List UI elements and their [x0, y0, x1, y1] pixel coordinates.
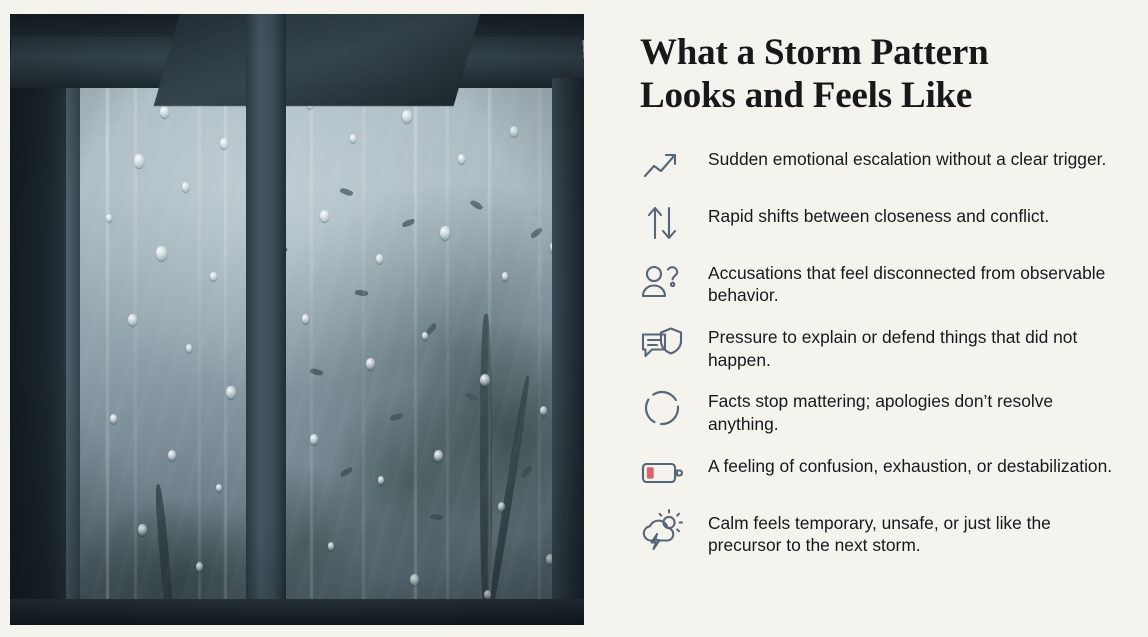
storm-window-illustration: [10, 14, 584, 625]
cloud-sun-lightning-icon: [640, 510, 684, 550]
speech-bubble-shield-icon: [640, 324, 684, 364]
illustration-vignette: [10, 14, 584, 625]
list-item-label: A feeling of confusion, exhaustion, or d…: [708, 453, 1112, 478]
list-item: Calm feels temporary, unsafe, or just li…: [640, 510, 1130, 557]
list-item: Sudden emotional escalation without a cl…: [640, 146, 1130, 186]
storm-pattern-list: Sudden emotional escalation without a cl…: [640, 146, 1130, 557]
slide-root: What a Storm Pattern Looks and Feels Lik…: [0, 0, 1148, 637]
page-title-line-2: Looks and Feels Like: [640, 75, 972, 116]
list-item-label: Pressure to explain or defend things tha…: [708, 324, 1128, 371]
list-item-label: Facts stop mattering; apologies don’t re…: [708, 388, 1128, 435]
list-item-label: Sudden emotional escalation without a cl…: [708, 146, 1106, 171]
list-item: Pressure to explain or defend things tha…: [640, 324, 1130, 371]
list-item: Facts stop mattering; apologies don’t re…: [640, 388, 1130, 435]
illustration-artwork: [10, 14, 584, 625]
up-down-arrows-icon: [640, 203, 684, 243]
dashed-circle-icon: [640, 388, 684, 428]
content-column: What a Storm Pattern Looks and Feels Lik…: [606, 0, 1148, 637]
low-battery-icon: [640, 453, 684, 493]
list-item-label: Calm feels temporary, unsafe, or just li…: [708, 510, 1128, 557]
person-question-mark-icon: [640, 260, 684, 300]
list-item: Accusations that feel disconnected from …: [640, 260, 1130, 307]
list-item-label: Accusations that feel disconnected from …: [708, 260, 1128, 307]
list-item: A feeling of confusion, exhaustion, or d…: [640, 453, 1130, 493]
list-item-label: Rapid shifts between closeness and confl…: [708, 203, 1049, 228]
page-title: What a Storm Pattern Looks and Feels Lik…: [640, 32, 1130, 118]
page-title-line-1: What a Storm Pattern: [640, 32, 988, 73]
trending-up-arrow-icon: [640, 146, 684, 186]
list-item: Rapid shifts between closeness and confl…: [640, 203, 1130, 243]
